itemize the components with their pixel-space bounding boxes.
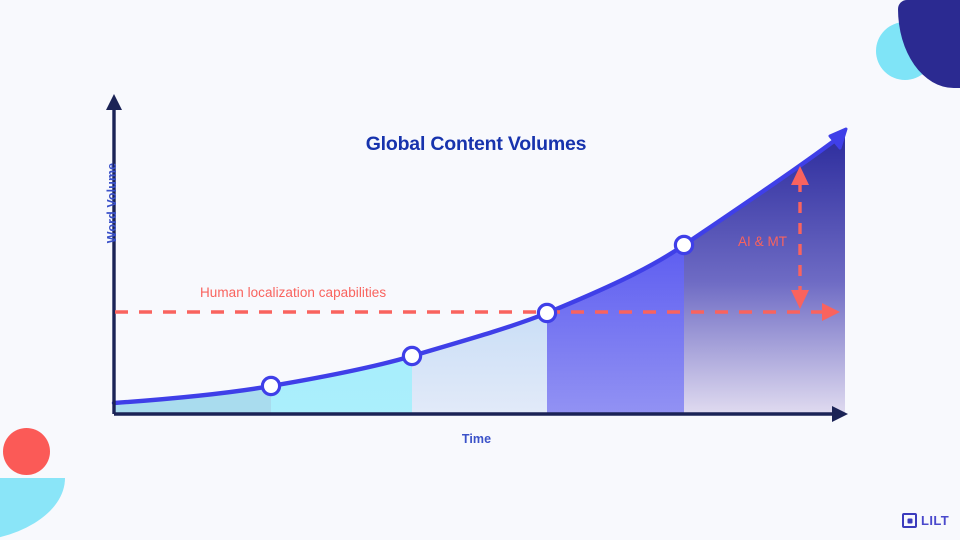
data-point-marker[interactable]	[675, 236, 692, 253]
data-point-marker[interactable]	[538, 304, 555, 321]
page-title: Global Content Volumes	[0, 133, 952, 156]
slide-canvas: Global Content Volumes Word Volume Time …	[0, 0, 960, 540]
data-point-marker[interactable]	[403, 347, 420, 364]
growth-curve-chart	[0, 0, 960, 540]
lilt-square-dot-icon	[902, 513, 917, 528]
y-axis-arrowhead	[106, 94, 122, 110]
area-color-bands	[114, 120, 846, 414]
lilt-logo: LILT	[902, 513, 949, 528]
area-band-3	[412, 120, 547, 414]
x-axis-label: Time	[399, 432, 554, 446]
chart-area	[0, 0, 960, 540]
data-point-marker[interactable]	[262, 377, 279, 394]
y-axis-label: Word Volume	[105, 143, 119, 263]
gap-arrow-label: AI & MT	[738, 234, 787, 249]
threshold-line-label: Human localization capabilities	[200, 285, 386, 300]
area-band-2	[271, 120, 412, 414]
lilt-wordmark: LILT	[921, 514, 949, 527]
area-band-1	[114, 120, 271, 414]
area-band-5	[684, 120, 846, 414]
area-band-4	[547, 120, 684, 414]
